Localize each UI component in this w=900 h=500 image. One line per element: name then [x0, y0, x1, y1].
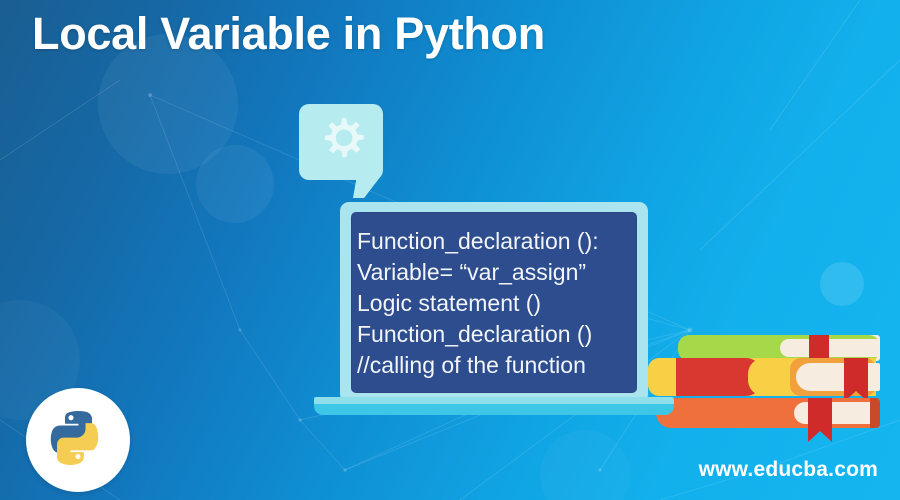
- code-line: Variable= “var_assign”: [357, 257, 637, 288]
- decorative-circle: [540, 430, 630, 500]
- code-block: Function_declaration (): Variable= “var_…: [357, 226, 637, 381]
- decorative-circle: [196, 145, 274, 223]
- page-title: Local Variable in Python: [32, 8, 545, 60]
- laptop-base-highlight: [314, 397, 674, 404]
- python-logo-icon: [46, 408, 110, 472]
- book-spine-edge: [870, 398, 880, 428]
- bookmark-icon: [844, 358, 868, 402]
- code-line: Function_declaration (): [357, 319, 637, 350]
- bookmark-icon: [808, 398, 832, 442]
- code-line: Function_declaration ():: [357, 226, 637, 257]
- banner-graphic: Local Variable in Python: [0, 0, 900, 500]
- code-line: Logic statement (): [357, 288, 637, 319]
- code-line: //calling of the function: [357, 350, 637, 381]
- books-stack: [648, 330, 900, 440]
- book-pages: [794, 402, 880, 424]
- site-url: www.educba.com: [699, 458, 878, 482]
- gear-icon: [316, 116, 368, 168]
- book-pages: [780, 339, 880, 357]
- decorative-circle: [820, 262, 864, 306]
